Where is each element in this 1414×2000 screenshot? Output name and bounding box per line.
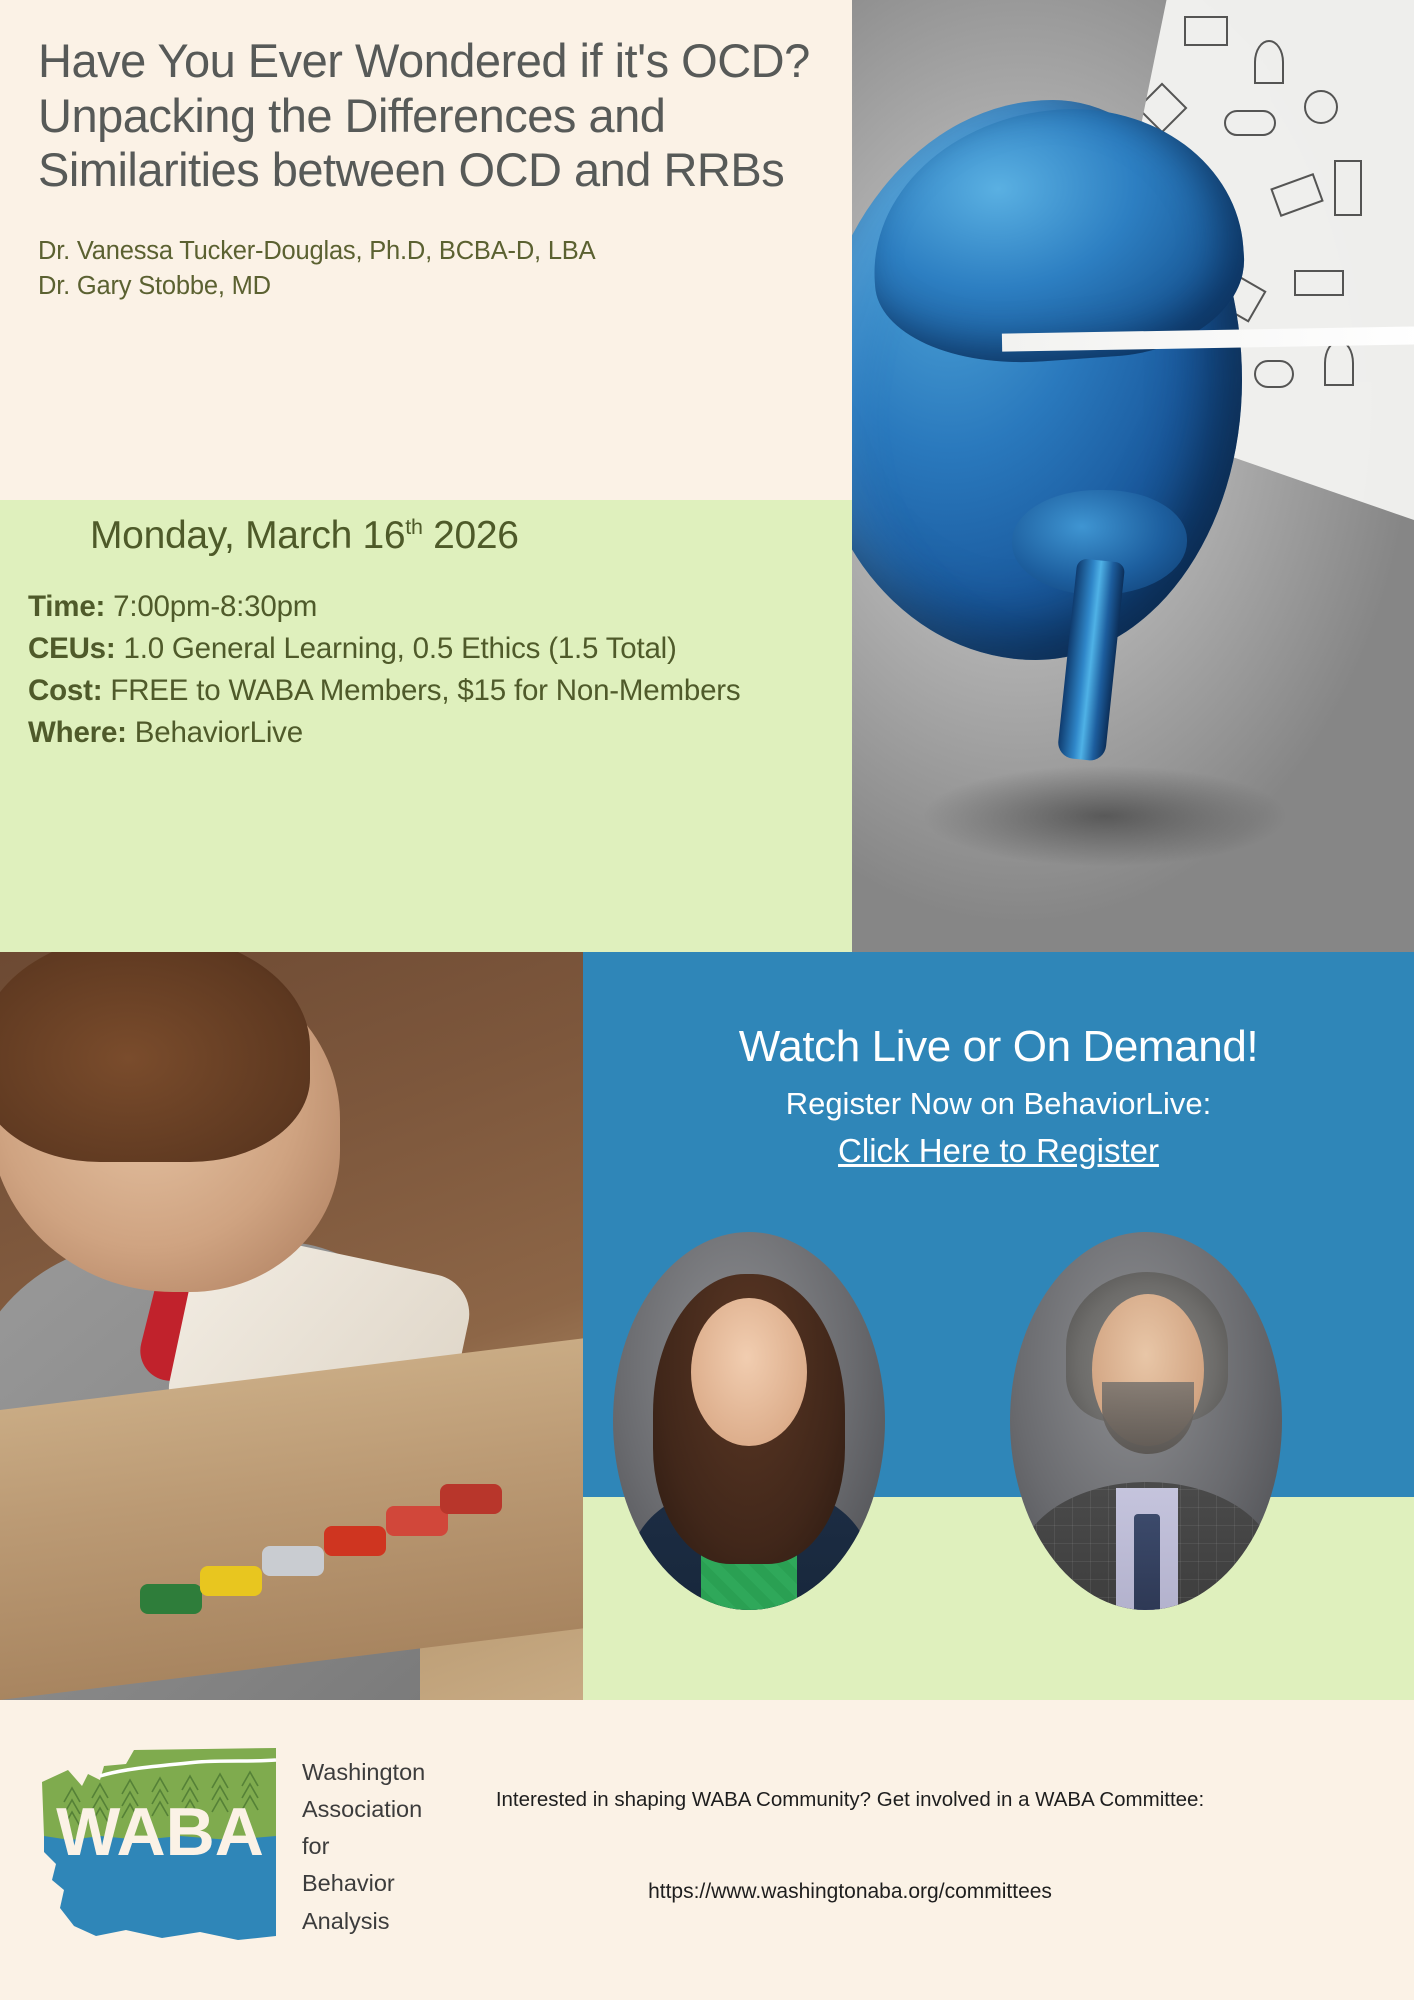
detail-label: Cost: — [28, 674, 102, 707]
committee-note: Interested in shaping WABA Community? Ge… — [470, 1785, 1230, 1814]
committee-url[interactable]: https://www.washingtonaba.org/committees — [470, 1880, 1230, 1904]
detail-ceus: CEUs: 1.0 General Learning, 0.5 Ethics (… — [28, 628, 816, 670]
child-hair — [0, 952, 310, 1162]
cta-subtitle: Register Now on BehaviorLive: — [583, 1086, 1414, 1122]
toy-car — [262, 1546, 324, 1576]
waba-logo: WABA Washington Association for Behavior… — [30, 1740, 450, 1960]
logo-line: Behavior — [302, 1865, 425, 1902]
logo-line: Association — [302, 1791, 425, 1828]
event-date-prefix: Monday, March 16 — [90, 514, 405, 557]
header-section: Have You Ever Wondered if it's OCD? Unpa… — [0, 0, 852, 500]
cta-title: Watch Live or On Demand! — [583, 1022, 1414, 1072]
toy-car — [386, 1506, 448, 1536]
event-date-ordinal: th — [405, 515, 422, 539]
detail-value: BehaviorLive — [127, 716, 303, 749]
logo-wordmark: Washington Association for Behavior Anal… — [302, 1754, 425, 1940]
portrait-face — [691, 1298, 807, 1446]
toy-car — [440, 1484, 502, 1514]
toy-car — [140, 1584, 202, 1614]
detail-where: Where: BehaviorLive — [28, 712, 816, 754]
logo-acronym: WABA — [56, 1794, 264, 1870]
presenter-name: Dr. Vanessa Tucker-Douglas, Ph.D, BCBA-D… — [38, 234, 812, 269]
event-date-year: 2026 — [423, 514, 519, 557]
child-playing-with-toy-cars-photo — [0, 952, 583, 1700]
presenter-list: Dr. Vanessa Tucker-Douglas, Ph.D, BCBA-D… — [38, 234, 812, 304]
page-title: Have You Ever Wondered if it's OCD? Unpa… — [38, 34, 812, 198]
toy-car — [200, 1566, 262, 1596]
presenter-name: Dr. Gary Stobbe, MD — [38, 269, 812, 304]
logo-line: for — [302, 1828, 425, 1865]
detail-label: CEUs: — [28, 632, 116, 665]
brain-illustration — [852, 0, 1414, 952]
detail-value: 7:00pm-8:30pm — [105, 590, 317, 623]
detail-label: Where: — [28, 716, 127, 749]
portrait-tie — [1134, 1514, 1160, 1610]
footer-section: WABA Washington Association for Behavior… — [0, 1700, 1414, 2000]
event-date: Monday, March 16th 2026 — [28, 514, 816, 558]
detail-value: FREE to WABA Members, $15 for Non-Member… — [102, 674, 740, 707]
detail-label: Time: — [28, 590, 105, 623]
presenter-portrait-vanessa — [613, 1232, 885, 1610]
presenter-portrait-gary — [1010, 1232, 1282, 1610]
floor-shadow — [852, 732, 1414, 872]
detail-time: Time: 7:00pm-8:30pm — [28, 586, 816, 628]
logo-line: Analysis — [302, 1903, 425, 1940]
cta-link-container: Click Here to Register — [583, 1132, 1414, 1170]
logo-line: Washington — [302, 1754, 425, 1791]
event-details-panel: Monday, March 16th 2026 Time: 7:00pm-8:3… — [0, 500, 852, 952]
toy-car — [324, 1526, 386, 1556]
washington-state-logo-icon: WABA — [30, 1740, 290, 1955]
register-link[interactable]: Click Here to Register — [838, 1132, 1159, 1169]
event-flyer: Have You Ever Wondered if it's OCD? Unpa… — [0, 0, 1414, 2000]
detail-cost: Cost: FREE to WABA Members, $15 for Non-… — [28, 670, 816, 712]
detail-value: 1.0 General Learning, 0.5 Ethics (1.5 To… — [116, 632, 677, 665]
